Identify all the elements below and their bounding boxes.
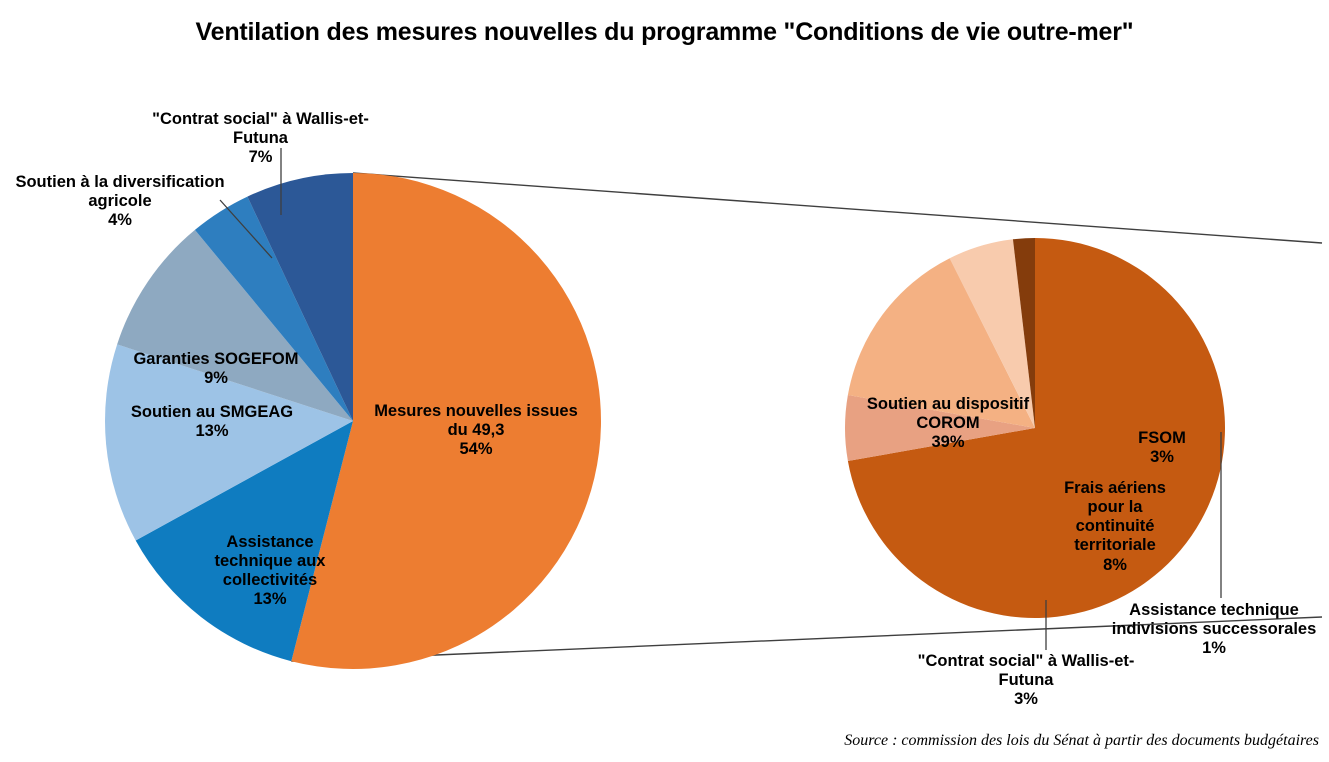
slice-label-soutien-dispositif-corom: Soutien au dispositif COROM 39% xyxy=(848,395,1048,452)
slice-label-frais-aeriens-continuite-territoriale: Frais aériens pour la continuité territo… xyxy=(1050,479,1180,575)
slice-label-contrat-social-wallis-detail: "Contrat social" à Wallis-et- Futuna 3% xyxy=(906,652,1146,709)
chart-figure: Ventilation des mesures nouvelles du pro… xyxy=(0,0,1329,762)
slice-label-assistance-indivisions-successorales: Assistance technique indivisions success… xyxy=(1100,601,1328,658)
slice-label-contrat-social-wallis: "Contrat social" à Wallis-et- Futuna 7% xyxy=(138,110,383,167)
slice-label-fsom: FSOM 3% xyxy=(1114,429,1210,467)
slice-label-soutien-smgeag: Soutien au SMGEAG 13% xyxy=(102,403,322,441)
source-note: Source : commission des lois du Sénat à … xyxy=(844,732,1319,750)
slice-label-garanties-sogefom: Garanties SOGEFOM 9% xyxy=(106,350,326,388)
slice-label-assistance-technique-collectivites: Assistance technique aux collectivités 1… xyxy=(190,533,350,610)
slice-label-mesures-nouvelles-49-3: Mesures nouvelles issues du 49,3 54% xyxy=(362,402,590,459)
slice-label-diversification-agricole: Soutien à la diversification agricole 4% xyxy=(4,173,236,230)
